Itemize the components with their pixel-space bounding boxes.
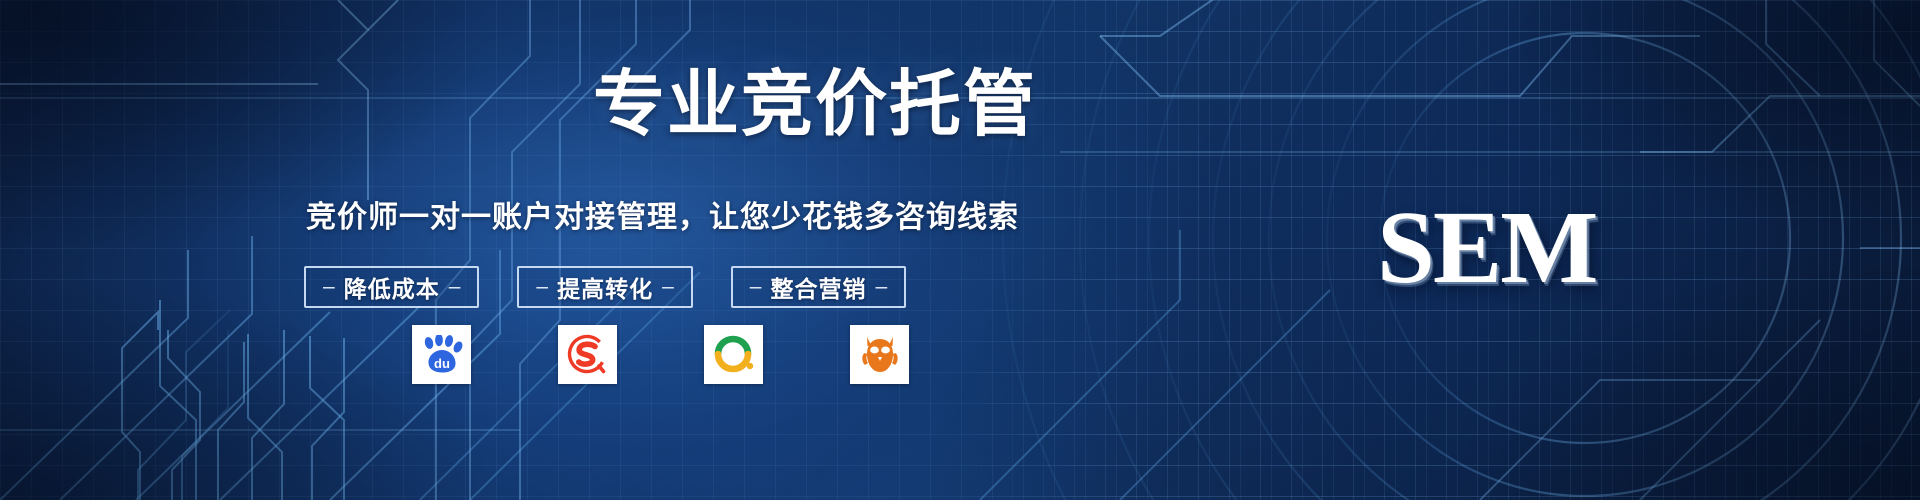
dash-right-icon: – [662,276,674,297]
banner-content: 专业竞价托管 竞价师一对一账户对接管理，让您少花钱多咨询线索 – 降低成本 – … [0,0,1920,500]
so360-circle-icon [712,333,756,377]
baidu-paw-icon: du [420,335,464,375]
feature-badge-label: 整合营销 [770,270,866,304]
feature-badge-improve-conversion[interactable]: – 提高转化 – [517,266,692,308]
page-title: 专业竞价托管 [593,68,1037,144]
feature-badge-label: 提高转化 [557,270,653,304]
sogou-s-icon [566,333,610,377]
dash-right-icon: – [875,276,887,297]
shenma-horse-icon [858,333,902,377]
subtitle: 竞价师一对一账户对接管理，让您少花钱多咨询线索 [306,200,1019,236]
sem-hosting-banner: 专业竞价托管 竞价师一对一账户对接管理，让您少花钱多咨询线索 – 降低成本 – … [0,0,1920,500]
dash-left-icon: – [536,276,548,297]
partner-logo-list: du [412,325,909,384]
dash-left-icon: – [750,276,762,297]
dash-right-icon: – [449,276,461,297]
partner-logo-sogou[interactable] [558,325,617,384]
partner-logo-baidu[interactable]: du [412,325,471,384]
feature-badge-label: 降低成本 [344,270,440,304]
dash-left-icon: – [323,276,335,297]
feature-badge-reduce-cost[interactable]: – 降低成本 – [304,266,479,308]
feature-badge-list: – 降低成本 – – 提高转化 – – 整合营销 – [304,266,906,308]
partner-logo-so360[interactable] [704,325,763,384]
partner-logo-shenma[interactable] [850,325,909,384]
sem-brand-mark: SEM [1377,196,1596,300]
feature-badge-integrated-marketing[interactable]: – 整合营销 – [731,266,906,308]
svg-text:du: du [434,356,450,371]
